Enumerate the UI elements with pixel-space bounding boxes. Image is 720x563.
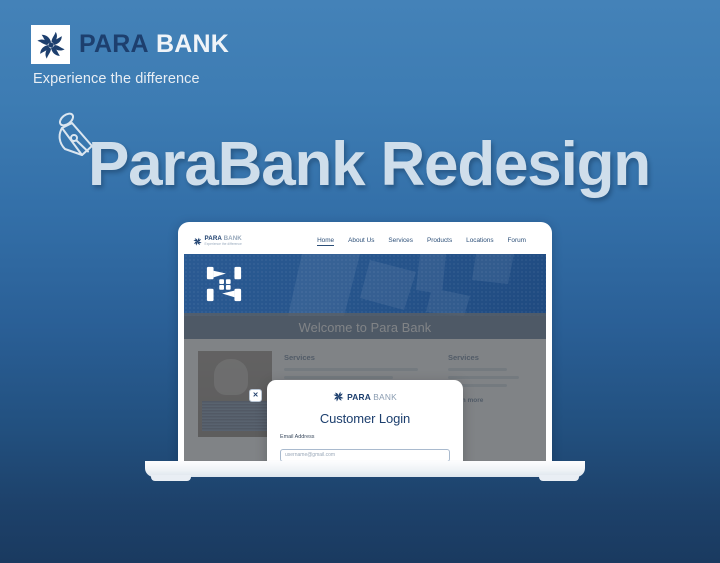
laptop-foot-right [539, 475, 579, 481]
modal-word-bank: BANK [373, 392, 397, 402]
modal-word-para: PARA [347, 392, 371, 402]
page-title: ParaBank Redesign [88, 134, 650, 196]
brand-lockup: PARA BANK Experience the difference [31, 25, 291, 87]
brand-row: PARA BANK [31, 25, 291, 64]
nav-link-about-us[interactable]: About Us [348, 237, 374, 245]
nav-link-services[interactable]: Services [388, 237, 413, 245]
brand-tagline: Experience the difference [33, 71, 291, 87]
site-nav-brand[interactable]: PARA BANK Experience the difference [193, 236, 242, 247]
laptop-screen: PARA BANK Experience the difference Home… [184, 228, 546, 464]
parabank-pinwheel-logo-icon [333, 391, 344, 402]
modal-wordmark: PARA BANK [347, 392, 397, 402]
brand-word-bank: BANK [156, 30, 229, 58]
close-x-icon[interactable]: ✕ [249, 389, 262, 402]
modal-title: Customer Login [280, 411, 450, 426]
laptop-lid: PARA BANK Experience the difference Home… [178, 222, 552, 464]
nav-link-products[interactable]: Products [427, 237, 452, 245]
customer-login-modal: ✕ [267, 380, 463, 464]
brand-wordmark: PARA BANK [79, 32, 229, 57]
site-nav-tagline: Experience the difference [205, 243, 242, 246]
site-nav-brand-text: PARA BANK Experience the difference [205, 236, 242, 247]
laptop-foot-left [151, 475, 191, 481]
parabank-pinwheel-logo-icon [193, 237, 202, 246]
site-nav-word-bank: BANK [224, 235, 242, 242]
poster-canvas: PARA BANK Experience the difference Para… [0, 0, 720, 563]
brand-word-para: PARA [79, 30, 149, 58]
abstract-geometric-graphic-icon [205, 265, 243, 303]
email-field-label: Email Address [280, 434, 450, 440]
site-nav-wordmark: PARA BANK [205, 236, 242, 242]
site-nav-word-para: PARA [205, 235, 222, 242]
nav-link-forum[interactable]: Forum [508, 237, 526, 245]
laptop-mockup: PARA BANK Experience the difference Home… [145, 222, 585, 490]
site-nav-links: Home About Us Services Products Location… [317, 237, 538, 246]
nav-link-locations[interactable]: Locations [466, 237, 493, 245]
modal-brand: PARA BANK [280, 391, 450, 402]
site-hero-banner [184, 254, 546, 316]
parabank-pinwheel-logo-icon [31, 25, 70, 64]
laptop-feet [145, 475, 585, 482]
nav-link-home[interactable]: Home [317, 237, 334, 246]
site-navbar: PARA BANK Experience the difference Home… [184, 228, 546, 254]
